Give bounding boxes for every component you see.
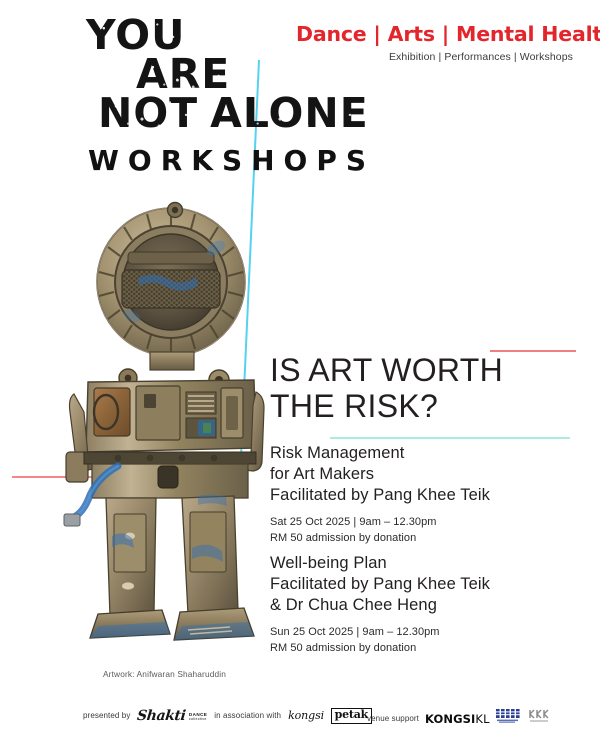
kongsikl-wordmark: KONGSIKL [425, 712, 490, 726]
logo-line-alone: ALONE [210, 94, 369, 132]
shakti-tagline-line-2: collective [189, 718, 207, 722]
artwork-robot-sculpture [58, 196, 284, 666]
robot-chest [86, 352, 256, 452]
logo-text-not: NOT [98, 94, 198, 132]
robot-legs [106, 495, 238, 616]
blue-bars-logo-icon [496, 708, 522, 729]
shakti-tagline: DANCE collective [189, 713, 207, 723]
page-headline: IS ART WORTH THE RISK? [270, 353, 580, 425]
session-2-title-line-1: Well-being Plan [270, 553, 585, 574]
kkk-logo-icon [528, 708, 550, 729]
session-block-well-being-plan: Well-being Plan Facilitated by Pang Khee… [270, 553, 585, 657]
artwork-credit: Artwork: Anifwaran Shaharuddin [103, 669, 226, 679]
session-2-facilitator-2: & Dr Chua Chee Heng [270, 595, 585, 616]
footer-venue-support-group: venue support KONGSIKL [367, 708, 550, 729]
session-1-title: Risk Management for Art Makers Facilitat… [270, 443, 585, 506]
logo-line-not: NOT [98, 94, 198, 132]
in-association-with-label: in association with [214, 711, 281, 720]
shakti-dance-collective-logo: Shakti DANCE collective [137, 709, 207, 723]
session-2-facilitator-1: Facilitated by Pang Khee Teik [270, 574, 585, 595]
logo-text-alone: ALONE [210, 94, 369, 132]
header-kicker: Dance | Arts | Mental Health [296, 22, 600, 46]
kongsikl-light-part: KL [475, 712, 489, 726]
footer: presented by Shakti DANCE collective in … [0, 694, 600, 750]
session-1-meta: Sat 25 Oct 2025 | 9am – 12.30pm RM 50 ad… [270, 515, 585, 547]
kongsi-wordmark: kongsi [288, 709, 324, 722]
session-1-price: RM 50 admission by donation [270, 531, 585, 547]
session-2-title: Well-being Plan Facilitated by Pang Khee… [270, 553, 585, 616]
session-1-title-line-2: for Art Makers [270, 464, 585, 485]
robot-feet [90, 608, 254, 640]
logo-line-not-alone: NOT ALONE [84, 93, 374, 132]
petak-wordmark: petak [331, 708, 372, 724]
footer-presented-by-group: presented by Shakti DANCE collective in … [83, 708, 372, 724]
decorative-mint-rule-mid [330, 437, 570, 439]
session-1-title-line-1: Risk Management [270, 443, 585, 464]
logo-text-are: ARE [136, 55, 230, 93]
session-block-risk-management: Risk Management for Art Makers Facilitat… [270, 443, 585, 547]
session-1-date: Sat 25 Oct 2025 | 9am – 12.30pm [270, 515, 585, 531]
presented-by-label: presented by [83, 711, 130, 720]
headline-line-2: THE RISK? [270, 389, 580, 425]
robot-head [97, 203, 245, 357]
logo-workshops-word: WORKSHOPS [88, 144, 374, 177]
header-subkicker: Exhibition | Performances | Workshops [389, 51, 573, 63]
kongsikl-bold-part: KONGSI [425, 712, 475, 726]
shakti-wordmark: Shakti [137, 709, 187, 723]
venue-support-label: venue support [367, 714, 419, 723]
session-2-price: RM 50 admission by donation [270, 641, 585, 657]
headline-line-1: IS ART WORTH [270, 353, 580, 389]
session-2-date: Sun 25 Oct 2025 | 9am – 12.30pm [270, 625, 585, 641]
logo-line-are: ARE [136, 55, 374, 93]
poster-canvas: YOU ARE NOT ALONE WORKSHOPS Dance | Arts… [0, 0, 600, 750]
session-2-meta: Sun 25 Oct 2025 | 9am – 12.30pm RM 50 ad… [270, 625, 585, 657]
session-1-facilitator: Facilitated by Pang Khee Teik [270, 485, 585, 506]
logo-text-you: YOU [86, 16, 185, 54]
